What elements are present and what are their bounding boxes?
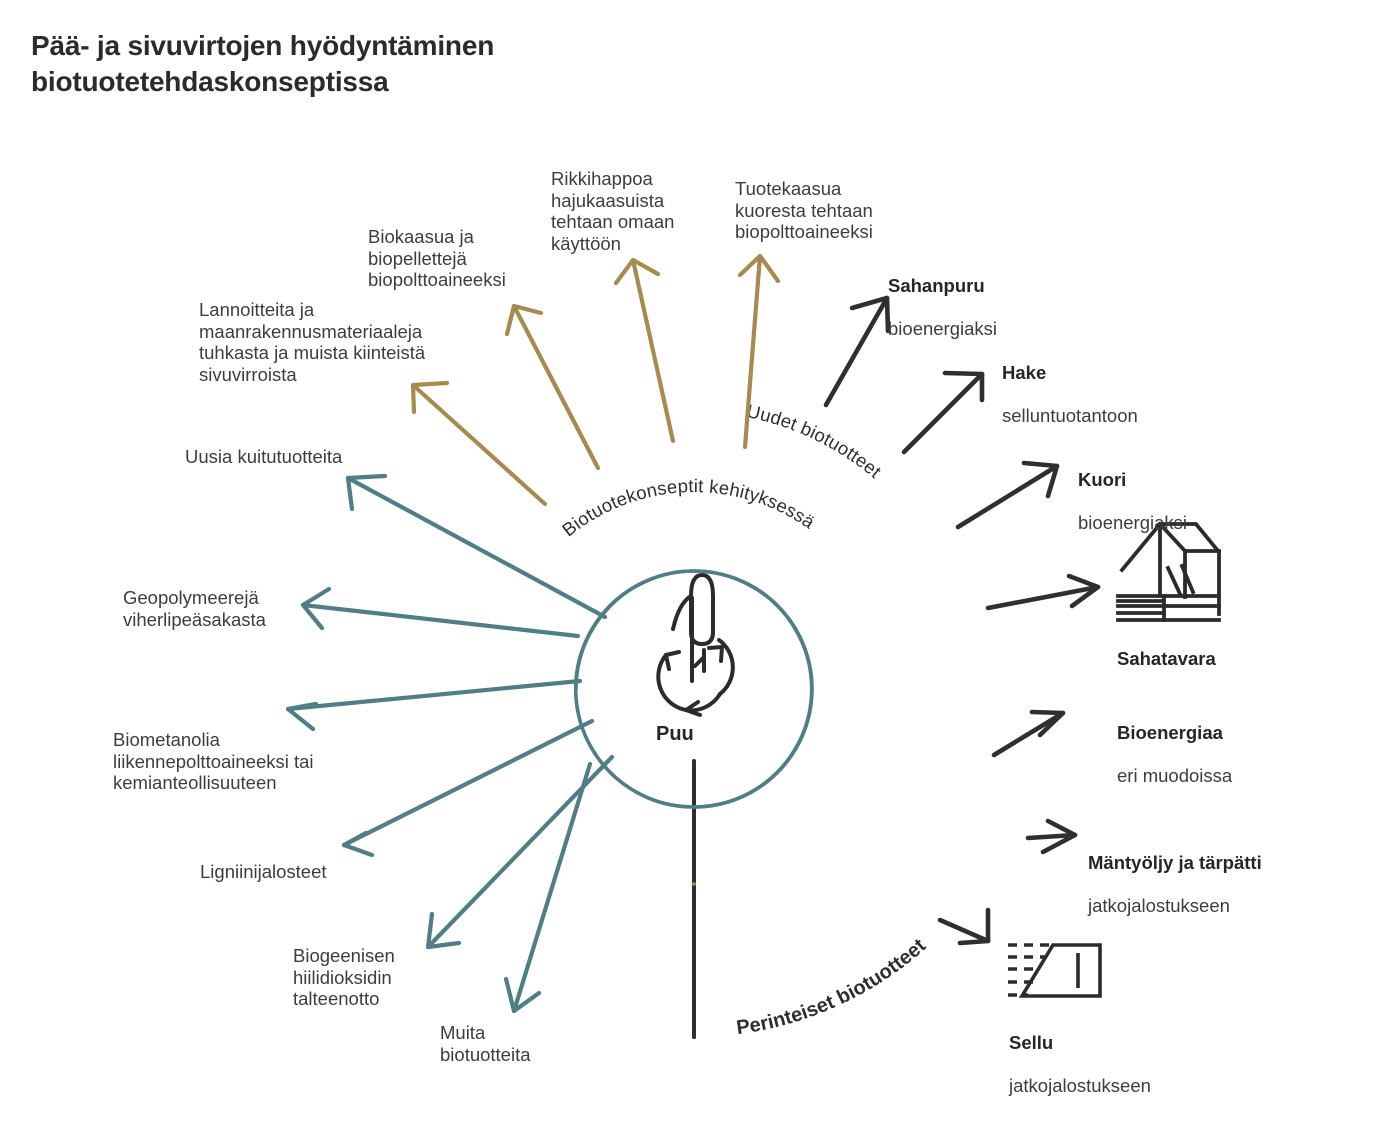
label-tuotekaasua: Tuotekaasua kuoresta tehtaan biopolttoai…	[735, 178, 910, 243]
label-sellu-sub: jatkojalostukseen	[1009, 1075, 1239, 1097]
label-mantyoljy-head: Mäntyöljy ja tärpätti	[1088, 852, 1328, 874]
label-sahatavara-head: Sahatavara	[1117, 648, 1337, 670]
label-geopolymeereja: Geopolymeerejä viherlipeäsakasta	[123, 587, 313, 630]
dark-arrow-sellu	[940, 910, 988, 943]
label-sellu: Sellu jatkojalostukseen	[1009, 1010, 1239, 1118]
teal-arrow-1	[348, 476, 605, 617]
label-muita-biotuotteita: Muita biotuotteita	[440, 1022, 580, 1065]
label-ligniinijalosteet: Ligniinijalosteet	[200, 861, 430, 883]
gold-arrow-3	[616, 260, 673, 441]
pulp-bale-icon	[1008, 945, 1100, 996]
label-hake-head: Hake	[1002, 362, 1222, 384]
label-sahanpuru-head: Sahanpuru	[888, 275, 1108, 297]
gold-arrow-1	[413, 383, 545, 504]
label-uusia-kuitutuotteita: Uusia kuitutuotteita	[185, 446, 345, 468]
label-sellu-head: Sellu	[1009, 1032, 1239, 1054]
svg-text:Uudet biotuotteet: Uudet biotuotteet	[745, 400, 886, 482]
label-biometanolia: Biometanolia liikennepolttoaineeksi tai …	[113, 729, 353, 794]
dark-arrow-sahatavara	[988, 576, 1098, 608]
teal-arrow-3	[288, 681, 580, 729]
ring-label-middle: Uudet biotuotteet	[745, 400, 886, 482]
label-hake: Hake selluntuotantoon	[1002, 340, 1222, 448]
center-label: Puu	[656, 723, 694, 746]
dark-arrow-hake	[904, 373, 982, 452]
label-lannoitteita: Lannoitteita ja maanrakennusmateriaaleja…	[199, 299, 489, 386]
dark-arrow-mantyoljy	[1028, 821, 1075, 852]
label-kuori-sub: bioenergiaksi	[1078, 512, 1298, 534]
svg-text:Perinteiset biotuotteet: Perinteiset biotuotteet	[735, 935, 930, 1040]
dark-arrow-bioenergiaa	[994, 712, 1063, 755]
dark-arrow-kuori	[958, 463, 1057, 527]
label-biogeenisen: Biogeenisen hiilidioksidin talteenotto	[293, 945, 443, 1010]
label-hake-sub: selluntuotantoon	[1002, 405, 1222, 427]
teal-arrow-2	[303, 589, 578, 636]
svg-text:Biotuotekonseptit kehityksessä: Biotuotekonseptit kehityksessä	[558, 475, 819, 540]
label-mantyoljy: Mäntyöljy ja tärpätti jatkojalostukseen	[1088, 830, 1328, 938]
ring-label-outer: Perinteiset biotuotteet	[735, 935, 930, 1040]
ring-label-inner: Biotuotekonseptit kehityksessä	[558, 475, 819, 540]
dark-arrow-sahanpuru	[826, 298, 888, 405]
label-sahanpuru-sub: bioenergiaksi	[888, 318, 1108, 340]
ring-labels: Biotuotekonseptit kehityksessä Uudet bio…	[558, 400, 930, 1039]
label-kuori: Kuori bioenergiaksi	[1078, 447, 1298, 555]
gold-arrow-2	[507, 306, 598, 468]
label-sahatavara: Sahatavara	[1117, 626, 1337, 691]
label-kuori-head: Kuori	[1078, 469, 1298, 491]
teal-arrow-6	[506, 764, 590, 1011]
tree-recycle-icon	[658, 575, 733, 715]
label-bioenergiaa-head: Bioenergiaa	[1117, 722, 1347, 744]
label-mantyoljy-sub: jatkojalostukseen	[1088, 895, 1328, 917]
label-bioenergiaa-sub: eri muodoissa	[1117, 765, 1347, 787]
label-biokaasua: Biokaasua ja biopellettejä biopolttoaine…	[368, 226, 548, 291]
label-bioenergiaa: Bioenergiaa eri muodoissa	[1117, 700, 1347, 808]
teal-arrow-4	[344, 721, 592, 855]
label-rikkihappoa: Rikkihappoa hajukaasuista tehtaan omaan …	[551, 168, 729, 255]
